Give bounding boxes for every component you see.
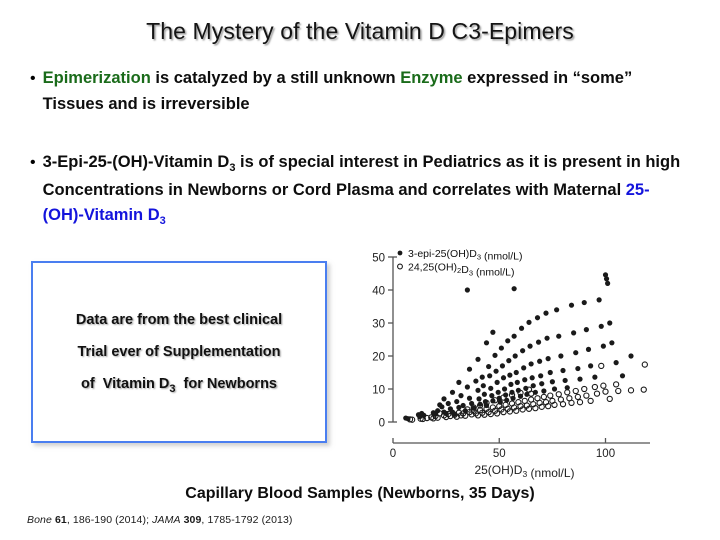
data-point-3-epi xyxy=(538,373,543,378)
citation: Bone 61, 186-190 (2014); JAMA 309, 1785-… xyxy=(27,514,293,526)
data-point-3-epi xyxy=(486,364,491,369)
data-point-2425 xyxy=(641,387,646,392)
chart-data-points xyxy=(403,272,647,422)
data-point-3-epi xyxy=(573,350,578,355)
data-point-3-epi xyxy=(536,340,541,345)
data-point-3-epi xyxy=(614,360,619,365)
bullet-1-seg-2: is catalyzed by a still unknown xyxy=(151,69,400,87)
data-point-3-epi xyxy=(493,369,498,374)
data-point-2425 xyxy=(577,400,582,405)
data-point-3-epi xyxy=(575,366,580,371)
data-point-3-epi xyxy=(475,388,480,393)
data-point-3-epi xyxy=(465,384,470,389)
data-point-3-epi xyxy=(487,373,492,378)
bullet-marker: • xyxy=(30,150,36,175)
data-point-3-epi xyxy=(505,338,510,343)
data-point-3-epi xyxy=(461,403,466,408)
legend-marker-filled-circle-icon xyxy=(398,251,403,256)
y-axis-tick-label: 0 xyxy=(379,418,385,430)
data-point-3-epi xyxy=(531,383,536,388)
chart-labels: 25(OH)D3 (nmol/L) xyxy=(474,463,574,480)
page-title: The Mystery of the Vitamin D C3-Epimers xyxy=(0,18,720,45)
data-point-3-epi xyxy=(475,357,480,362)
callout-subscript-3: 3 xyxy=(169,383,175,395)
data-point-3-epi xyxy=(605,281,610,286)
data-point-2425 xyxy=(541,394,546,399)
data-point-3-epi xyxy=(577,377,582,382)
data-point-3-epi xyxy=(550,379,555,384)
data-point-3-epi xyxy=(609,340,614,345)
data-point-3-epi xyxy=(607,320,612,325)
data-point-3-epi xyxy=(599,324,604,329)
data-point-3-epi xyxy=(450,390,455,395)
data-point-2425 xyxy=(588,398,593,403)
y-axis-tick-label: 30 xyxy=(372,319,385,331)
data-point-3-epi xyxy=(492,353,497,358)
data-point-3-epi xyxy=(535,315,540,320)
data-point-3-epi xyxy=(441,396,446,401)
data-point-3-epi xyxy=(601,344,606,349)
data-point-3-epi xyxy=(473,378,478,383)
data-point-3-epi xyxy=(569,303,574,308)
y-axis-tick-label: 40 xyxy=(372,286,385,298)
data-point-2425 xyxy=(616,388,621,393)
data-point-3-epi xyxy=(458,393,463,398)
data-point-2425 xyxy=(575,394,580,399)
bullet-marker: • xyxy=(30,66,36,91)
data-point-3-epi xyxy=(495,380,500,385)
citation-journal-2: JAMA xyxy=(152,514,180,526)
bullet-1-text: Epimerization is catalyzed by a still un… xyxy=(43,66,690,117)
chart-svg: 01020304050050100 3-epi-25(OH)D3 (nmol/L… xyxy=(352,243,652,483)
data-point-3-epi xyxy=(539,381,544,386)
callout-line-2: Trial ever of Supplementation xyxy=(77,336,280,368)
data-point-3-epi xyxy=(523,386,528,391)
bullet-item-2: • 3-Epi-25-(OH)-Vitamin D3 is of special… xyxy=(30,150,690,231)
data-point-3-epi xyxy=(480,375,485,380)
callout-line-3-pre: of Vitamin D xyxy=(81,376,169,392)
data-point-3-epi xyxy=(543,311,548,316)
data-point-3-epi xyxy=(520,348,525,353)
data-point-3-epi xyxy=(508,382,513,387)
chart-caption: Capillary Blood Samples (Newborns, 35 Da… xyxy=(0,485,720,503)
data-point-3-epi xyxy=(537,359,542,364)
data-point-2425 xyxy=(569,400,574,405)
data-point-3-epi xyxy=(526,320,531,325)
citation-journal-1: Bone xyxy=(27,514,52,526)
data-point-3-epi xyxy=(439,404,444,409)
data-point-2425 xyxy=(628,388,633,393)
data-point-3-epi xyxy=(465,287,470,292)
data-point-3-epi xyxy=(512,334,517,339)
callout-line-3: of Vitamin D3 for Newborns xyxy=(81,368,277,401)
data-point-3-epi xyxy=(514,370,519,375)
data-point-2425 xyxy=(582,386,587,391)
data-point-3-epi xyxy=(522,377,527,382)
data-point-3-epi xyxy=(530,375,535,380)
citation-volume-1: 61 xyxy=(55,514,67,526)
bullet-1-keyword-enzyme: Enzyme xyxy=(400,69,462,87)
data-point-3-epi xyxy=(571,330,576,335)
data-point-3-epi xyxy=(597,297,602,302)
bullet-2-keyword-subscript-3: 3 xyxy=(160,215,166,227)
data-point-3-epi xyxy=(454,399,459,404)
data-point-3-epi xyxy=(604,276,609,281)
data-point-3-epi xyxy=(515,380,520,385)
x-axis-label: 25(OH)D3 (nmol/L) xyxy=(474,463,574,480)
bullet-1-keyword-epimerization: Epimerization xyxy=(43,69,151,87)
data-point-3-epi xyxy=(529,361,534,366)
data-point-3-epi xyxy=(620,373,625,378)
data-point-3-epi xyxy=(554,307,559,312)
data-point-3-epi xyxy=(552,386,557,391)
data-point-3-epi xyxy=(467,367,472,372)
data-point-3-epi xyxy=(546,356,551,361)
data-point-3-epi xyxy=(513,353,518,358)
data-point-2425 xyxy=(592,384,597,389)
data-point-3-epi xyxy=(446,401,451,406)
callout-line-3-post: for Newborns xyxy=(175,376,277,392)
data-point-3-epi xyxy=(506,358,511,363)
data-point-3-epi xyxy=(490,330,495,335)
data-point-3-epi xyxy=(556,334,561,339)
x-axis-tick-label: 100 xyxy=(596,448,615,460)
data-point-3-epi xyxy=(541,388,546,393)
citation-pages-2: , 1785-1792 (2013) xyxy=(201,514,292,526)
data-point-2425 xyxy=(594,391,599,396)
data-point-3-epi xyxy=(507,373,512,378)
data-point-2425 xyxy=(584,393,589,398)
data-point-2425 xyxy=(601,383,606,388)
data-point-3-epi xyxy=(476,396,481,401)
data-point-3-epi xyxy=(558,353,563,358)
y-axis-tick-label: 50 xyxy=(372,253,385,265)
data-point-3-epi xyxy=(548,370,553,375)
data-point-3-epi xyxy=(501,375,506,380)
data-point-2425 xyxy=(614,382,619,387)
data-point-3-epi xyxy=(519,326,524,331)
data-point-3-epi xyxy=(588,363,593,368)
data-point-2425 xyxy=(548,393,553,398)
data-point-3-epi xyxy=(496,390,501,395)
data-point-3-epi xyxy=(586,347,591,352)
citation-volume-2: 309 xyxy=(184,514,202,526)
data-point-2425 xyxy=(560,402,565,407)
chart-legend: 3-epi-25(OH)D3 (nmol/L)24,25(OH)2D3 (nmo… xyxy=(398,248,523,279)
data-point-3-epi xyxy=(560,368,565,373)
data-point-2425 xyxy=(642,362,647,367)
y-axis-tick-label: 10 xyxy=(372,385,385,397)
legend-marker-open-circle-icon xyxy=(398,264,403,269)
data-point-3-epi xyxy=(482,392,487,397)
callout-box: Data are from the best clinical Trial ev… xyxy=(31,261,327,443)
data-point-3-epi xyxy=(584,327,589,332)
data-point-3-epi xyxy=(628,353,633,358)
data-point-3-epi xyxy=(544,336,549,341)
bullet-2-text: 3-Epi-25-(OH)-Vitamin D3 is of special i… xyxy=(43,150,690,231)
data-point-3-epi xyxy=(592,375,597,380)
data-point-3-epi xyxy=(527,344,532,349)
data-point-3-epi xyxy=(467,396,472,401)
data-point-3-epi xyxy=(500,363,505,368)
bullet-item-1: • Epimerization is catalyzed by a still … xyxy=(30,66,690,117)
x-axis-tick-label: 0 xyxy=(390,448,396,460)
data-point-3-epi xyxy=(512,286,517,291)
data-point-3-epi xyxy=(510,396,515,401)
data-point-2425 xyxy=(607,396,612,401)
data-point-2425 xyxy=(573,388,578,393)
data-point-3-epi xyxy=(484,340,489,345)
data-point-3-epi xyxy=(521,365,526,370)
data-point-3-epi xyxy=(456,380,461,385)
data-point-3-epi xyxy=(502,386,507,391)
data-point-2425 xyxy=(556,392,561,397)
data-point-3-epi xyxy=(499,345,504,350)
data-point-2425 xyxy=(565,390,570,395)
x-axis-tick-label: 50 xyxy=(493,448,506,460)
bullet-2-subscript-3: 3 xyxy=(229,162,235,174)
data-point-3-epi xyxy=(488,386,493,391)
citation-pages-1: , 186-190 (2014); xyxy=(67,514,152,526)
bullet-2-seg-1: 3-Epi-25-(OH)-Vitamin D xyxy=(43,153,230,171)
legend-label: 24,25(OH)2D3 (nmol/L) xyxy=(408,262,515,279)
data-point-3-epi xyxy=(481,383,486,388)
data-point-3-epi xyxy=(582,300,587,305)
callout-line-1: Data are from the best clinical xyxy=(76,304,282,336)
data-point-3-epi xyxy=(563,378,568,383)
data-point-2425 xyxy=(599,363,604,368)
data-point-2425 xyxy=(603,389,608,394)
legend-label: 3-epi-25(OH)D3 (nmol/L) xyxy=(408,248,523,263)
y-axis-tick-label: 20 xyxy=(372,352,385,364)
scatter-chart: 01020304050050100 3-epi-25(OH)D3 (nmol/L… xyxy=(352,243,652,483)
